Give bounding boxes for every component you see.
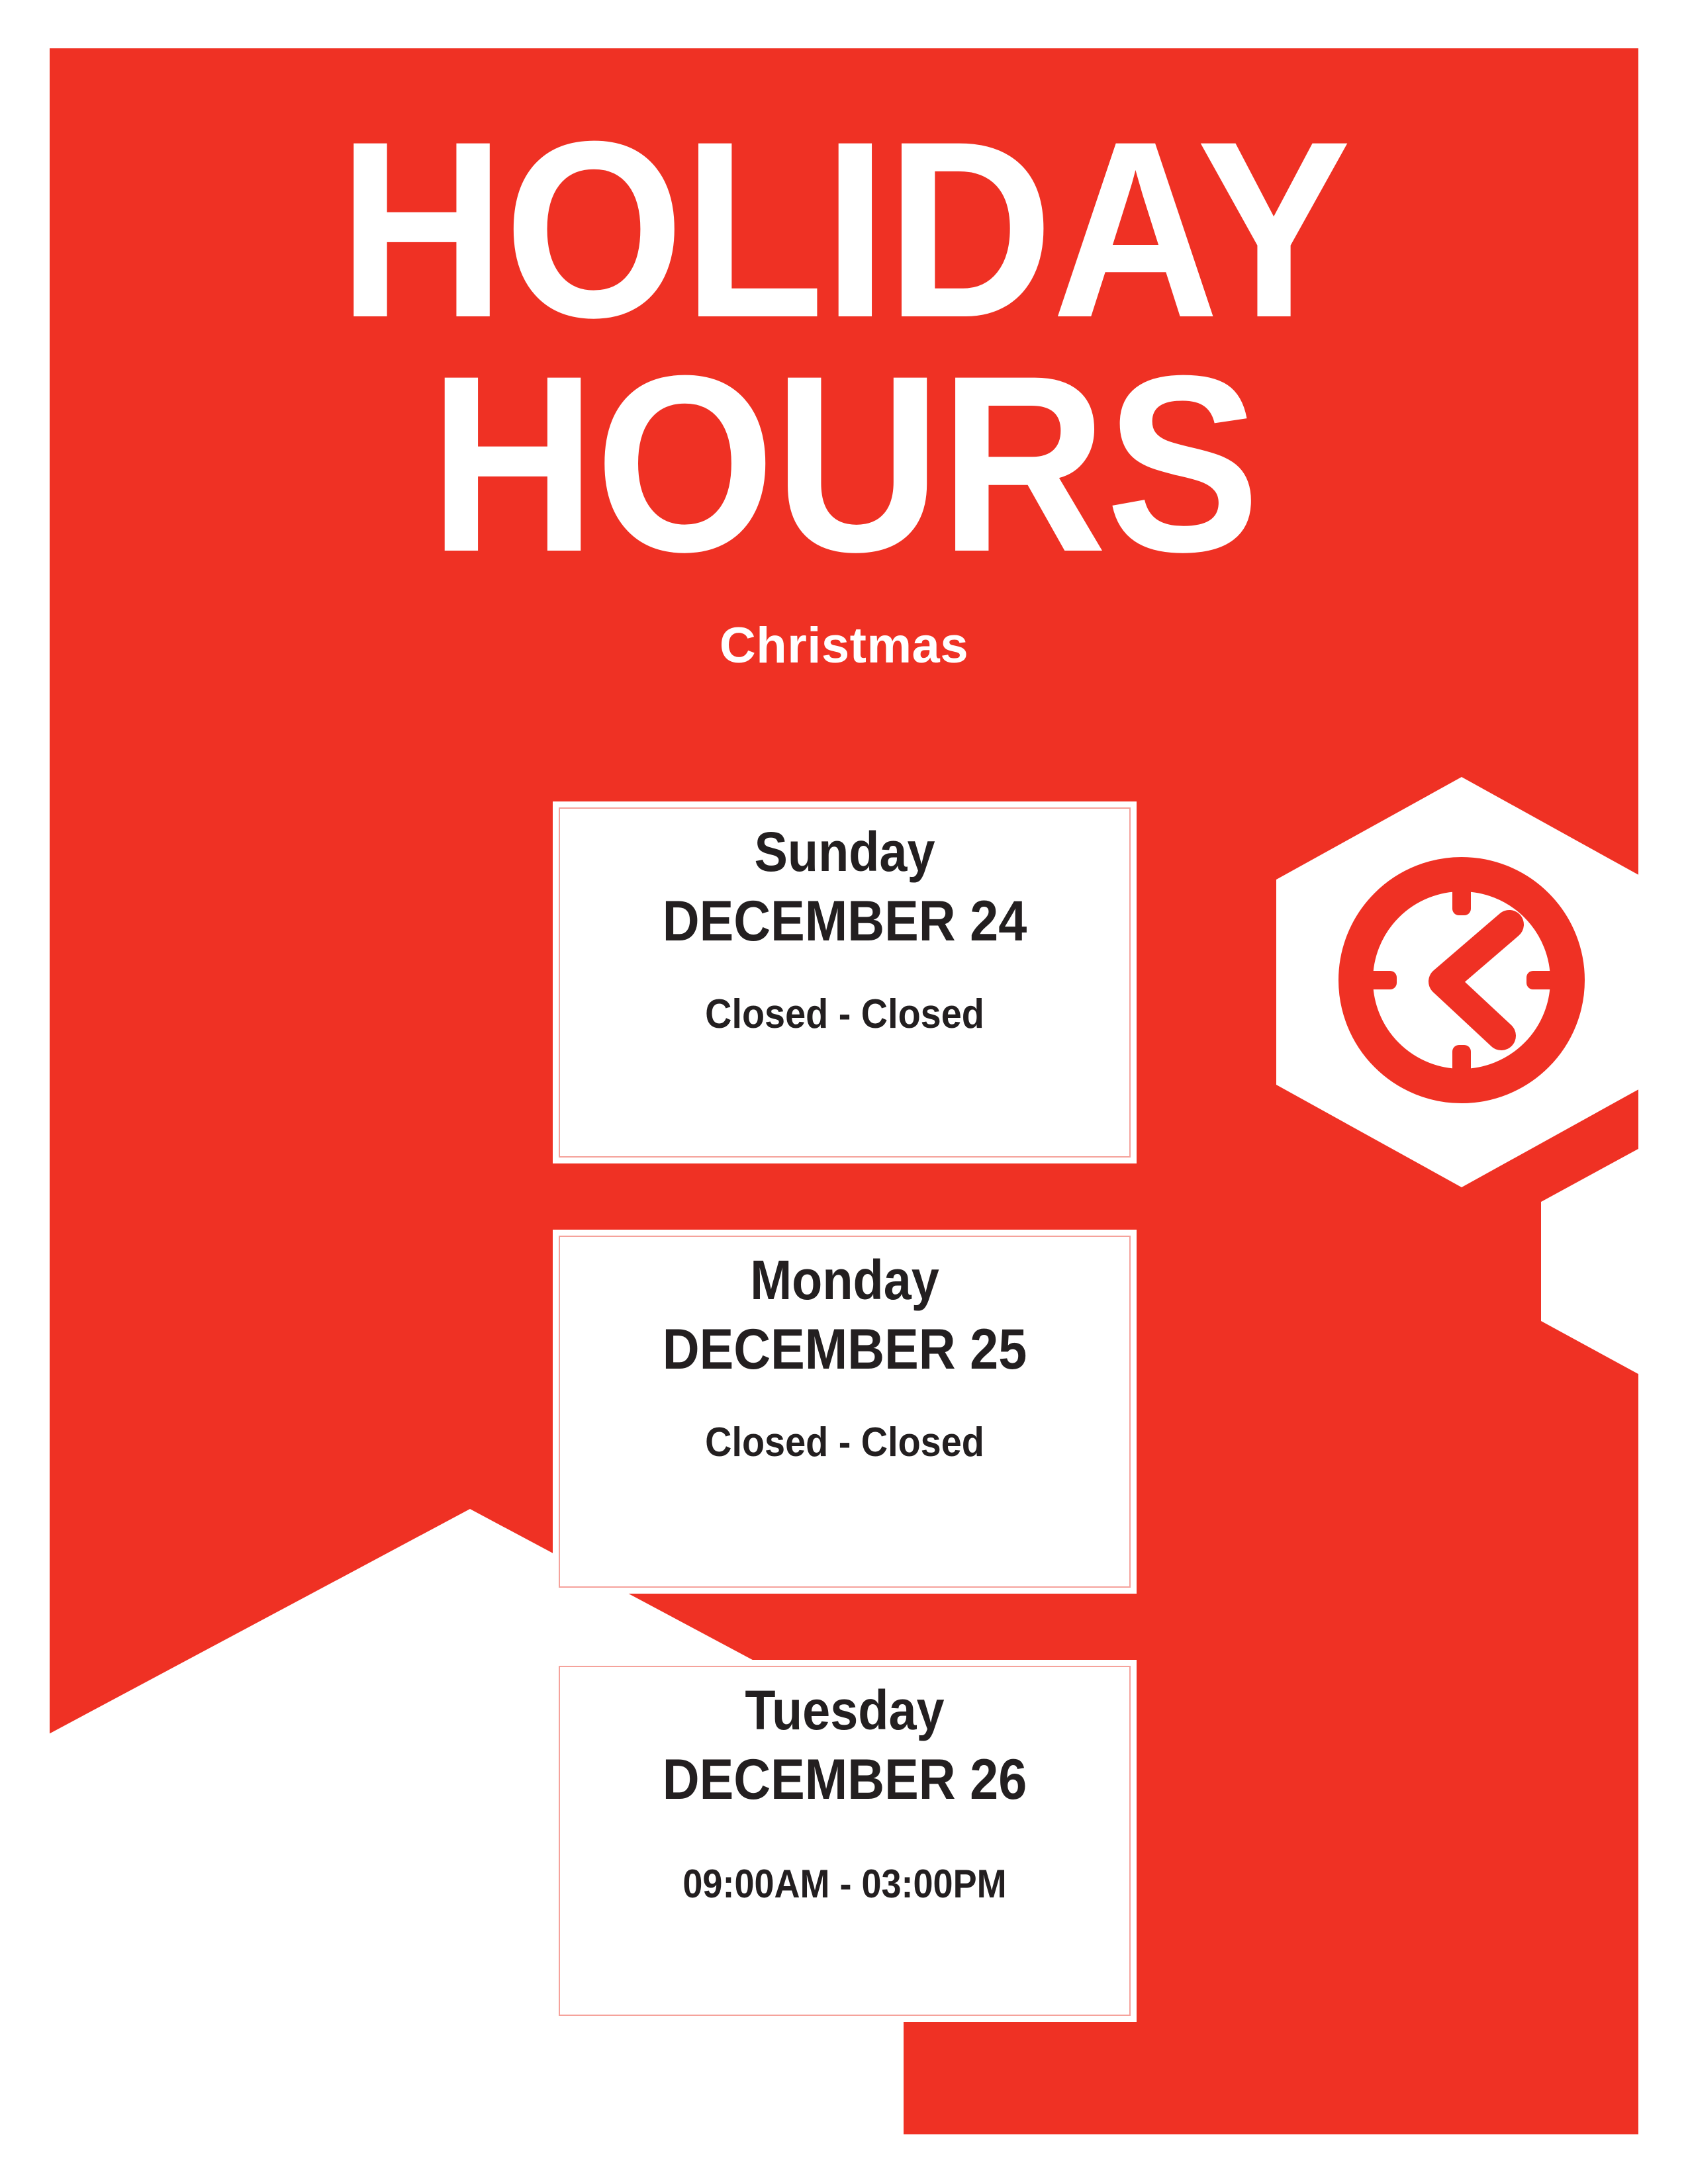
schedule-card: Sunday DECEMBER 24 Closed - Closed — [553, 801, 1137, 1163]
schedule-card: Monday DECEMBER 25 Closed - Closed — [553, 1230, 1137, 1594]
schedule-card: Tuesday DECEMBER 26 09:00AM - 03:00PM — [553, 1660, 1137, 2022]
page-title-line-2: HOURS — [113, 341, 1575, 587]
decorative-hexagon-small — [1541, 1142, 1638, 1381]
day-name: Monday — [600, 1252, 1090, 1309]
poster-headline: HOLIDAY HOURS Christmas — [50, 48, 1638, 674]
day-hours: Closed - Closed — [600, 1421, 1090, 1464]
clock-icon — [1329, 848, 1594, 1113]
page-title-line-1: HOLIDAY — [113, 107, 1575, 353]
day-name: Tuesday — [600, 1682, 1090, 1739]
poster-subtitle: Christmas — [50, 617, 1638, 674]
poster-red-panel: HOLIDAY HOURS Christmas Sunday DECEMBER … — [50, 48, 1638, 2134]
day-name: Sunday — [600, 824, 1090, 881]
day-hours: 09:00AM - 03:00PM — [600, 1863, 1090, 1905]
day-date: DECEMBER 26 — [600, 1751, 1090, 1809]
holiday-hours-poster: HOLIDAY HOURS Christmas Sunday DECEMBER … — [0, 0, 1688, 2184]
day-hours: Closed - Closed — [600, 993, 1090, 1036]
schedule-card-list: Sunday DECEMBER 24 Closed - Closed Monda… — [553, 801, 1137, 2022]
day-date: DECEMBER 24 — [600, 893, 1090, 951]
day-date: DECEMBER 25 — [600, 1321, 1090, 1379]
